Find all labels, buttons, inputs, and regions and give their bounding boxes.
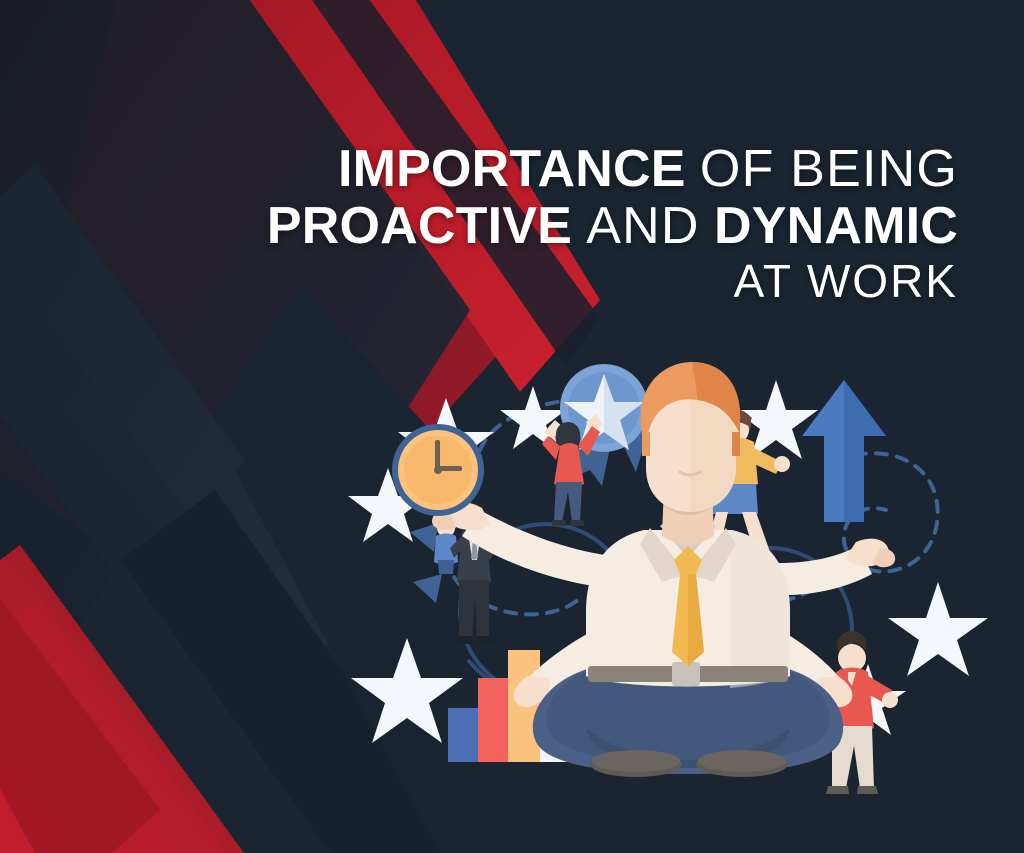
- dashed-arrow-lower-left: [413, 574, 442, 603]
- clock-icon: [392, 424, 484, 516]
- title-word-and: AND: [586, 197, 699, 255]
- star-icon-5: [888, 582, 988, 676]
- up-arrow-icon: [802, 380, 886, 522]
- title-words-of-being: OF BEING: [700, 140, 958, 198]
- bar-1: [448, 708, 478, 762]
- banner-canvas: IMPORTANCE OF BEING PROACTIVE AND DYNAMI…: [0, 0, 1024, 853]
- title-line-3: AT WORK: [258, 259, 958, 304]
- star-icon-3: [351, 638, 463, 743]
- multitasking-businessman-illustration: [350, 360, 1024, 800]
- bar-2: [478, 678, 508, 762]
- title-word-importance: IMPORTANCE: [338, 140, 686, 198]
- title-line-2: PROACTIVE AND DYNAMIC: [258, 201, 958, 251]
- title-words-at-work: AT WORK: [734, 255, 958, 307]
- belt-buckle: [672, 662, 700, 686]
- title-word-proactive: PROACTIVE: [267, 197, 572, 255]
- title-line-1: IMPORTANCE OF BEING: [258, 144, 958, 194]
- dashed-arrow-mid-left: [410, 523, 438, 552]
- page-title: IMPORTANCE OF BEING PROACTIVE AND DYNAMI…: [258, 144, 958, 303]
- title-word-dynamic: DYNAMIC: [714, 197, 958, 255]
